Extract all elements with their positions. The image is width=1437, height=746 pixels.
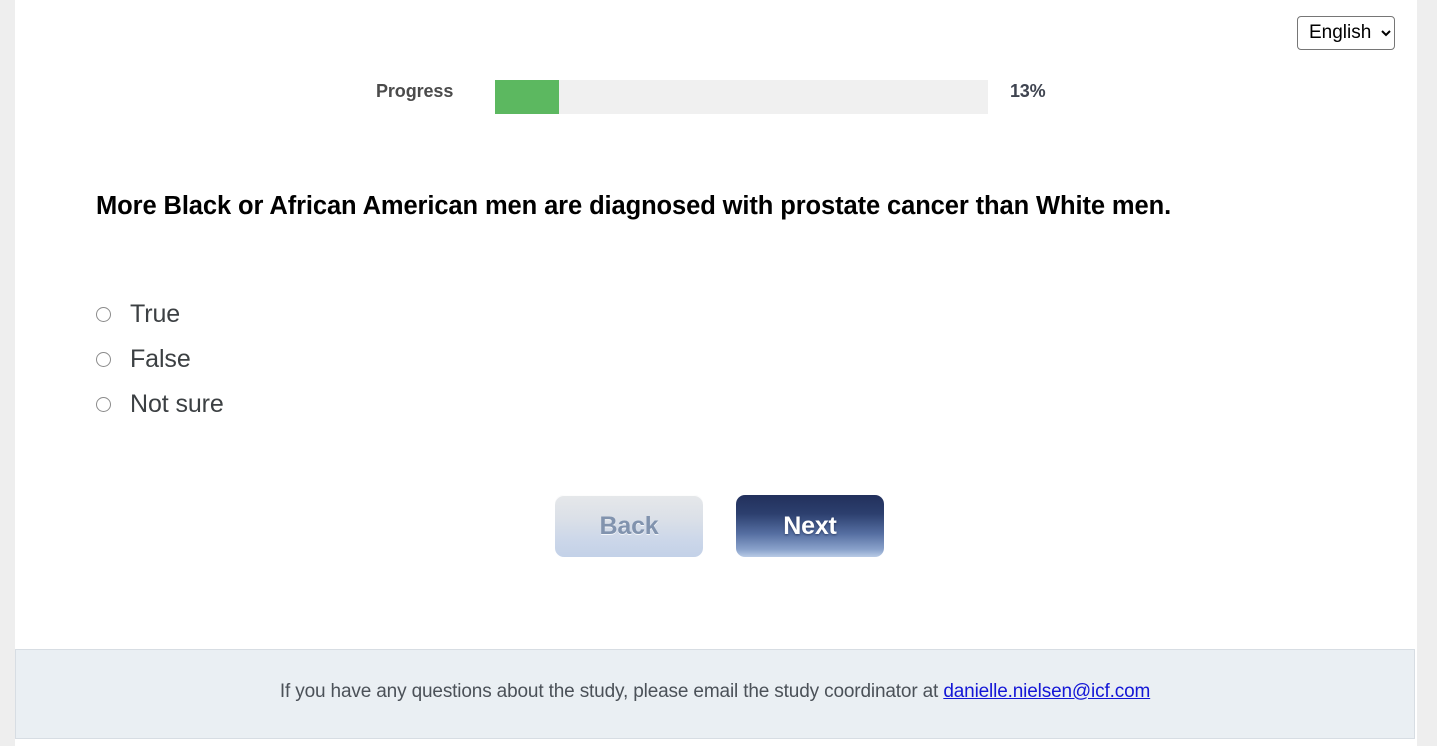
answer-option-true[interactable]: True [96,292,796,337]
coordinator-email-link[interactable]: danielle.nielsen@icf.com [943,681,1150,702]
radio-icon-false[interactable] [96,352,111,367]
footer-message: If you have any questions about the stud… [280,681,943,702]
footer-text: If you have any questions about the stud… [16,681,1414,703]
navigation-buttons: Back Next [15,495,1417,565]
answer-option-false[interactable]: False [96,337,796,382]
language-selector-container: English [1297,16,1395,50]
progress-label: Progress [376,81,453,102]
progress-bar-fill [495,80,559,114]
answer-option-label-false: False [130,345,191,374]
question-text: More Black or African American men are d… [96,190,1346,224]
radio-icon-not-sure[interactable] [96,397,111,412]
progress-bar-track [495,80,988,114]
next-button[interactable]: Next [736,495,884,557]
back-button[interactable]: Back [555,495,703,557]
radio-icon-true[interactable] [96,307,111,322]
answer-options-group: True False Not sure [96,292,796,427]
progress-percent-text: 13% [1010,81,1045,102]
answer-option-not-sure[interactable]: Not sure [96,382,796,427]
language-select[interactable]: English [1297,16,1395,50]
footer: If you have any questions about the stud… [15,649,1415,739]
answer-option-label-not-sure: Not sure [130,390,224,419]
progress-section: Progress 13% [15,80,1417,116]
answer-option-label-true: True [130,300,180,329]
survey-page: English Progress 13% More Black or Afric… [15,0,1417,746]
